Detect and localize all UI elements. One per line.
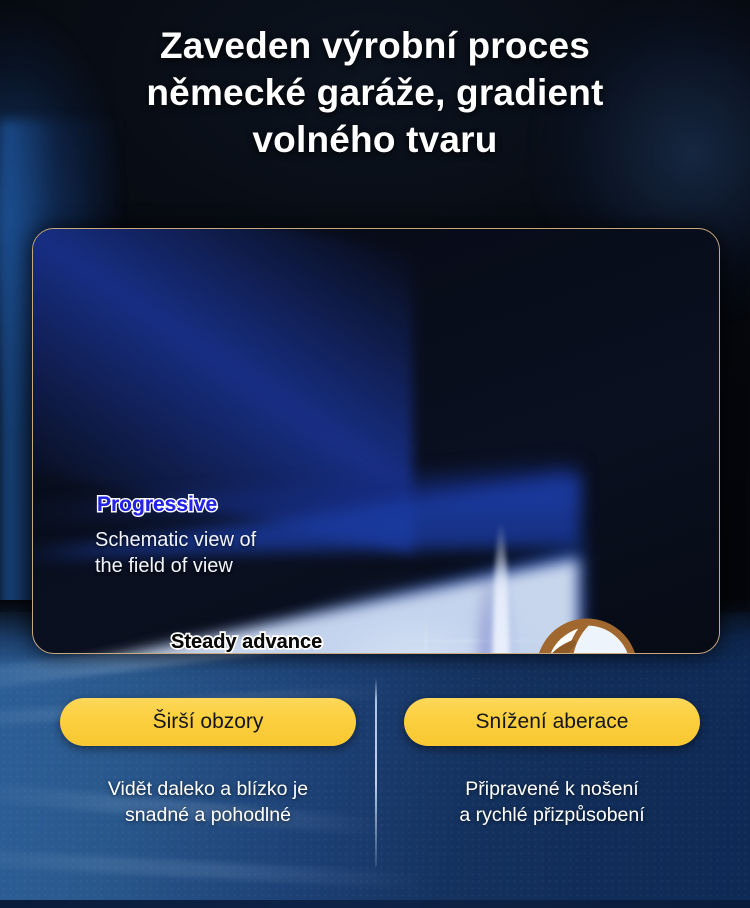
flare-tick-top xyxy=(425,613,427,653)
feature-pill-1[interactable]: Širší obzory xyxy=(60,698,356,746)
page-title: Zaveden výrobní proces německé garáže, g… xyxy=(0,22,750,163)
promo-page: Zaveden výrobní proces německé garáže, g… xyxy=(0,0,750,908)
background-bottom-bar xyxy=(0,900,750,908)
label-progressive-description: Schematic view of the field of view xyxy=(95,527,256,579)
page-title-line-3: volného tvaru xyxy=(0,116,750,163)
feature-item-1: Širší obzory Vidět daleko a blízko je sn… xyxy=(38,690,378,828)
feature-item-2: Snížení aberace Připravené k nošení a ry… xyxy=(382,690,722,828)
label-steady-advance-fill: Steady advance xyxy=(171,631,322,653)
feature-pill-2[interactable]: Snížení aberace xyxy=(404,698,700,746)
eye-icon xyxy=(529,613,641,653)
label-progressive-fill: Progressive xyxy=(97,493,217,517)
feature-description-2: Připravené k nošení a rychlé přizpůsoben… xyxy=(382,776,722,828)
page-title-line-2: německé garáže, gradient xyxy=(0,69,750,116)
lens-diagram-canvas: Progressive Progressive Schematic view o… xyxy=(33,229,719,653)
lens-diagram-card: Progressive Progressive Schematic view o… xyxy=(32,228,720,654)
feature-section: Širší obzory Vidět daleko a blízko je sn… xyxy=(0,690,750,870)
page-title-line-1: Zaveden výrobní proces xyxy=(0,22,750,69)
feature-description-1: Vidět daleko a blízko je snadné a pohodl… xyxy=(38,776,378,828)
